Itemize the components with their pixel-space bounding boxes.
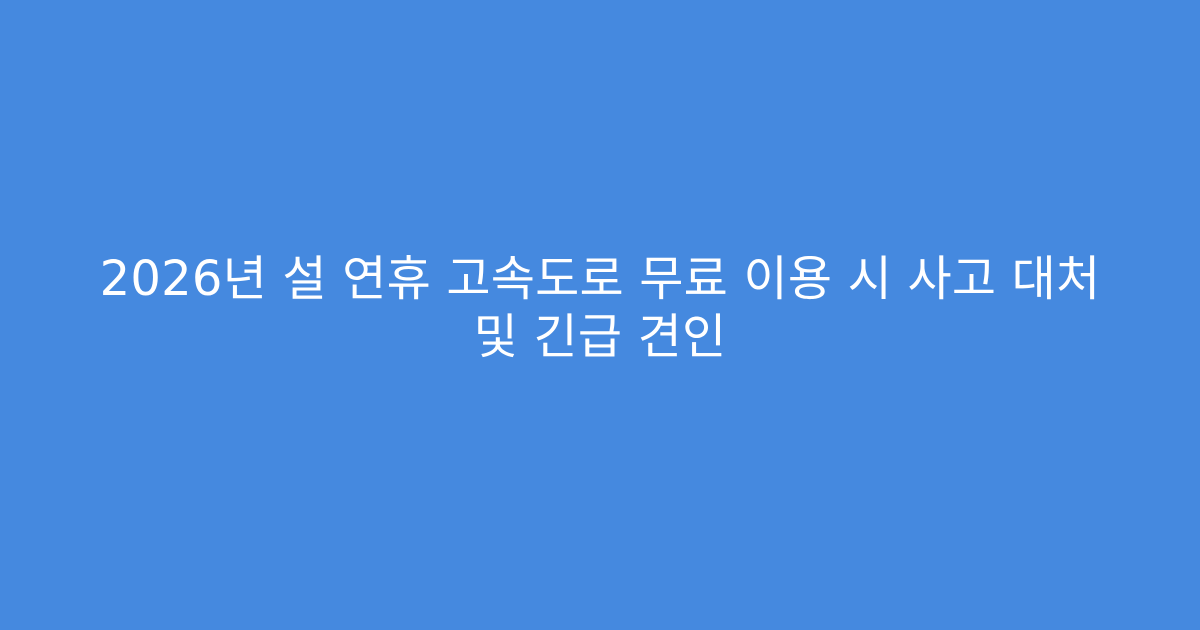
headline-line-1: 2026년 설 연휴 고속도로 무료 이용 시 사고 대처 [100,250,1101,308]
page-title: 2026년 설 연휴 고속도로 무료 이용 시 사고 대처 및 긴급 견인 [100,250,1101,366]
headline-line-2: 및 긴급 견인 [100,308,1101,366]
headline-block: 2026년 설 연휴 고속도로 무료 이용 시 사고 대처 및 긴급 견인 [70,250,1130,380]
share-card-canvas: 2026년 설 연휴 고속도로 무료 이용 시 사고 대처 및 긴급 견인 [0,0,1200,630]
